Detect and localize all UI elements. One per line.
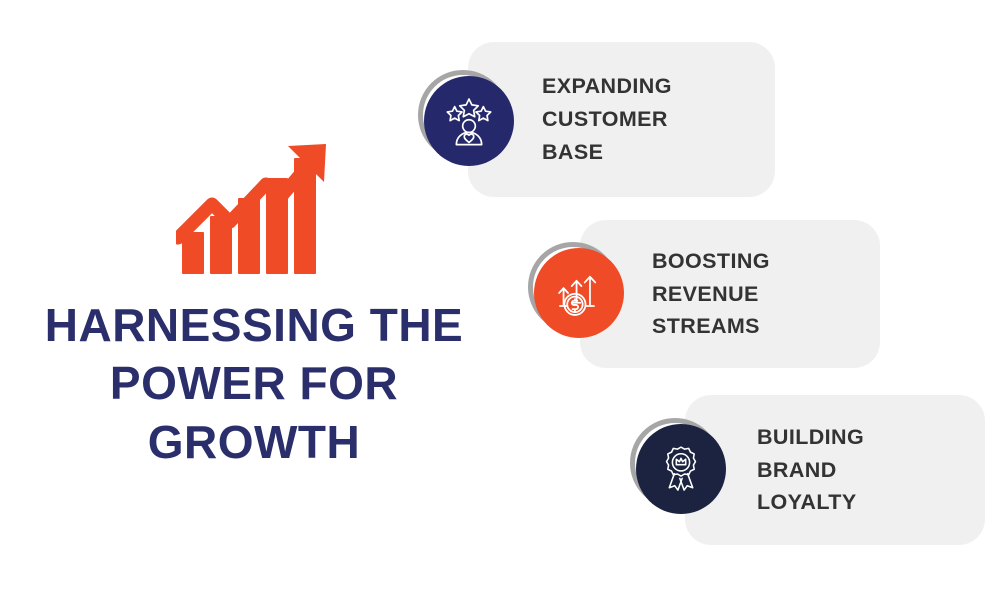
badge-building-brand-loyalty[interactable] — [630, 418, 726, 514]
page-title-line-3: Growth — [22, 413, 486, 471]
customer-stars-heart-icon — [424, 76, 514, 166]
award-ribbon-crown-icon — [636, 424, 726, 514]
card-3-line-1: Building — [757, 421, 864, 454]
card-3-line-2: Brand — [757, 454, 864, 487]
card-2-line-2: Revenue — [652, 278, 770, 311]
card-expanding-customer-base[interactable]: Expanding Customer Base — [468, 42, 775, 197]
card-1-line-2: Customer — [542, 103, 672, 136]
page-title: Harnessing the Power for Growth — [22, 296, 486, 471]
card-label-building-brand-loyalty: Building Brand Loyalty — [757, 421, 864, 519]
page-title-line-2: Power for — [22, 354, 486, 412]
badge-boosting-revenue-streams[interactable] — [528, 242, 624, 338]
card-label-boosting-revenue-streams: Boosting Revenue Streams — [652, 245, 770, 343]
rising-arrows-dollar-coin-icon — [534, 248, 624, 338]
card-building-brand-loyalty[interactable]: Building Brand Loyalty — [685, 395, 985, 545]
card-label-expanding-customer-base: Expanding Customer Base — [542, 70, 672, 168]
card-1-line-3: Base — [542, 136, 672, 169]
card-boosting-revenue-streams[interactable]: Boosting Revenue Streams — [580, 220, 880, 368]
page-title-line-1: Harnessing the — [22, 296, 486, 354]
growth-bar-chart-with-arrow-icon — [176, 140, 336, 276]
card-2-line-3: Streams — [652, 310, 770, 343]
card-3-line-3: Loyalty — [757, 486, 864, 519]
badge-expanding-customer-base[interactable] — [418, 70, 514, 166]
card-1-line-1: Expanding — [542, 70, 672, 103]
infographic-canvas: Harnessing the Power for Growth Expandin… — [0, 0, 1004, 591]
card-2-line-1: Boosting — [652, 245, 770, 278]
